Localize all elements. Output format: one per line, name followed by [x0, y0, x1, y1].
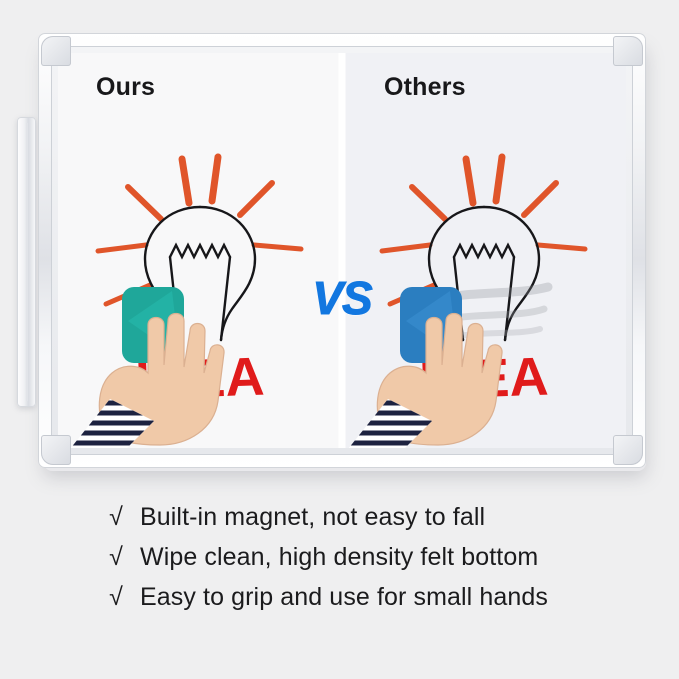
feature-text: Built-in magnet, not easy to fall — [140, 503, 485, 531]
check-icon: √ — [108, 585, 124, 610]
corner-cap-top-right — [613, 36, 643, 66]
heading-ours: Ours — [96, 73, 155, 102]
list-item: √ Easy to grip and use for small hands — [108, 583, 628, 611]
hanging-rail — [17, 117, 36, 407]
heading-others: Others — [384, 73, 466, 102]
list-item: √ Wipe clean, high density felt bottom — [108, 543, 628, 571]
check-icon: √ — [108, 545, 124, 570]
board-frame: Ours Others — [38, 33, 646, 468]
feature-text: Wipe clean, high density felt bottom — [140, 543, 538, 571]
check-icon: √ — [108, 505, 124, 530]
hand-with-blue-eraser — [346, 281, 546, 448]
whiteboard: Ours Others — [38, 33, 646, 468]
infographic-stage: Ours Others — [0, 0, 679, 679]
list-item: √ Built-in magnet, not easy to fall — [108, 503, 628, 531]
versus-badge: VS — [312, 271, 371, 325]
feature-text: Easy to grip and use for small hands — [140, 583, 548, 611]
feature-list: √ Built-in magnet, not easy to fall √ Wi… — [108, 503, 628, 623]
rail-groove — [26, 123, 28, 401]
corner-cap-top-left — [41, 36, 71, 66]
corner-cap-bottom-right — [613, 435, 643, 465]
board-surface: Ours Others — [58, 53, 626, 448]
hand-with-teal-eraser — [68, 281, 268, 448]
corner-cap-bottom-left — [41, 435, 71, 465]
